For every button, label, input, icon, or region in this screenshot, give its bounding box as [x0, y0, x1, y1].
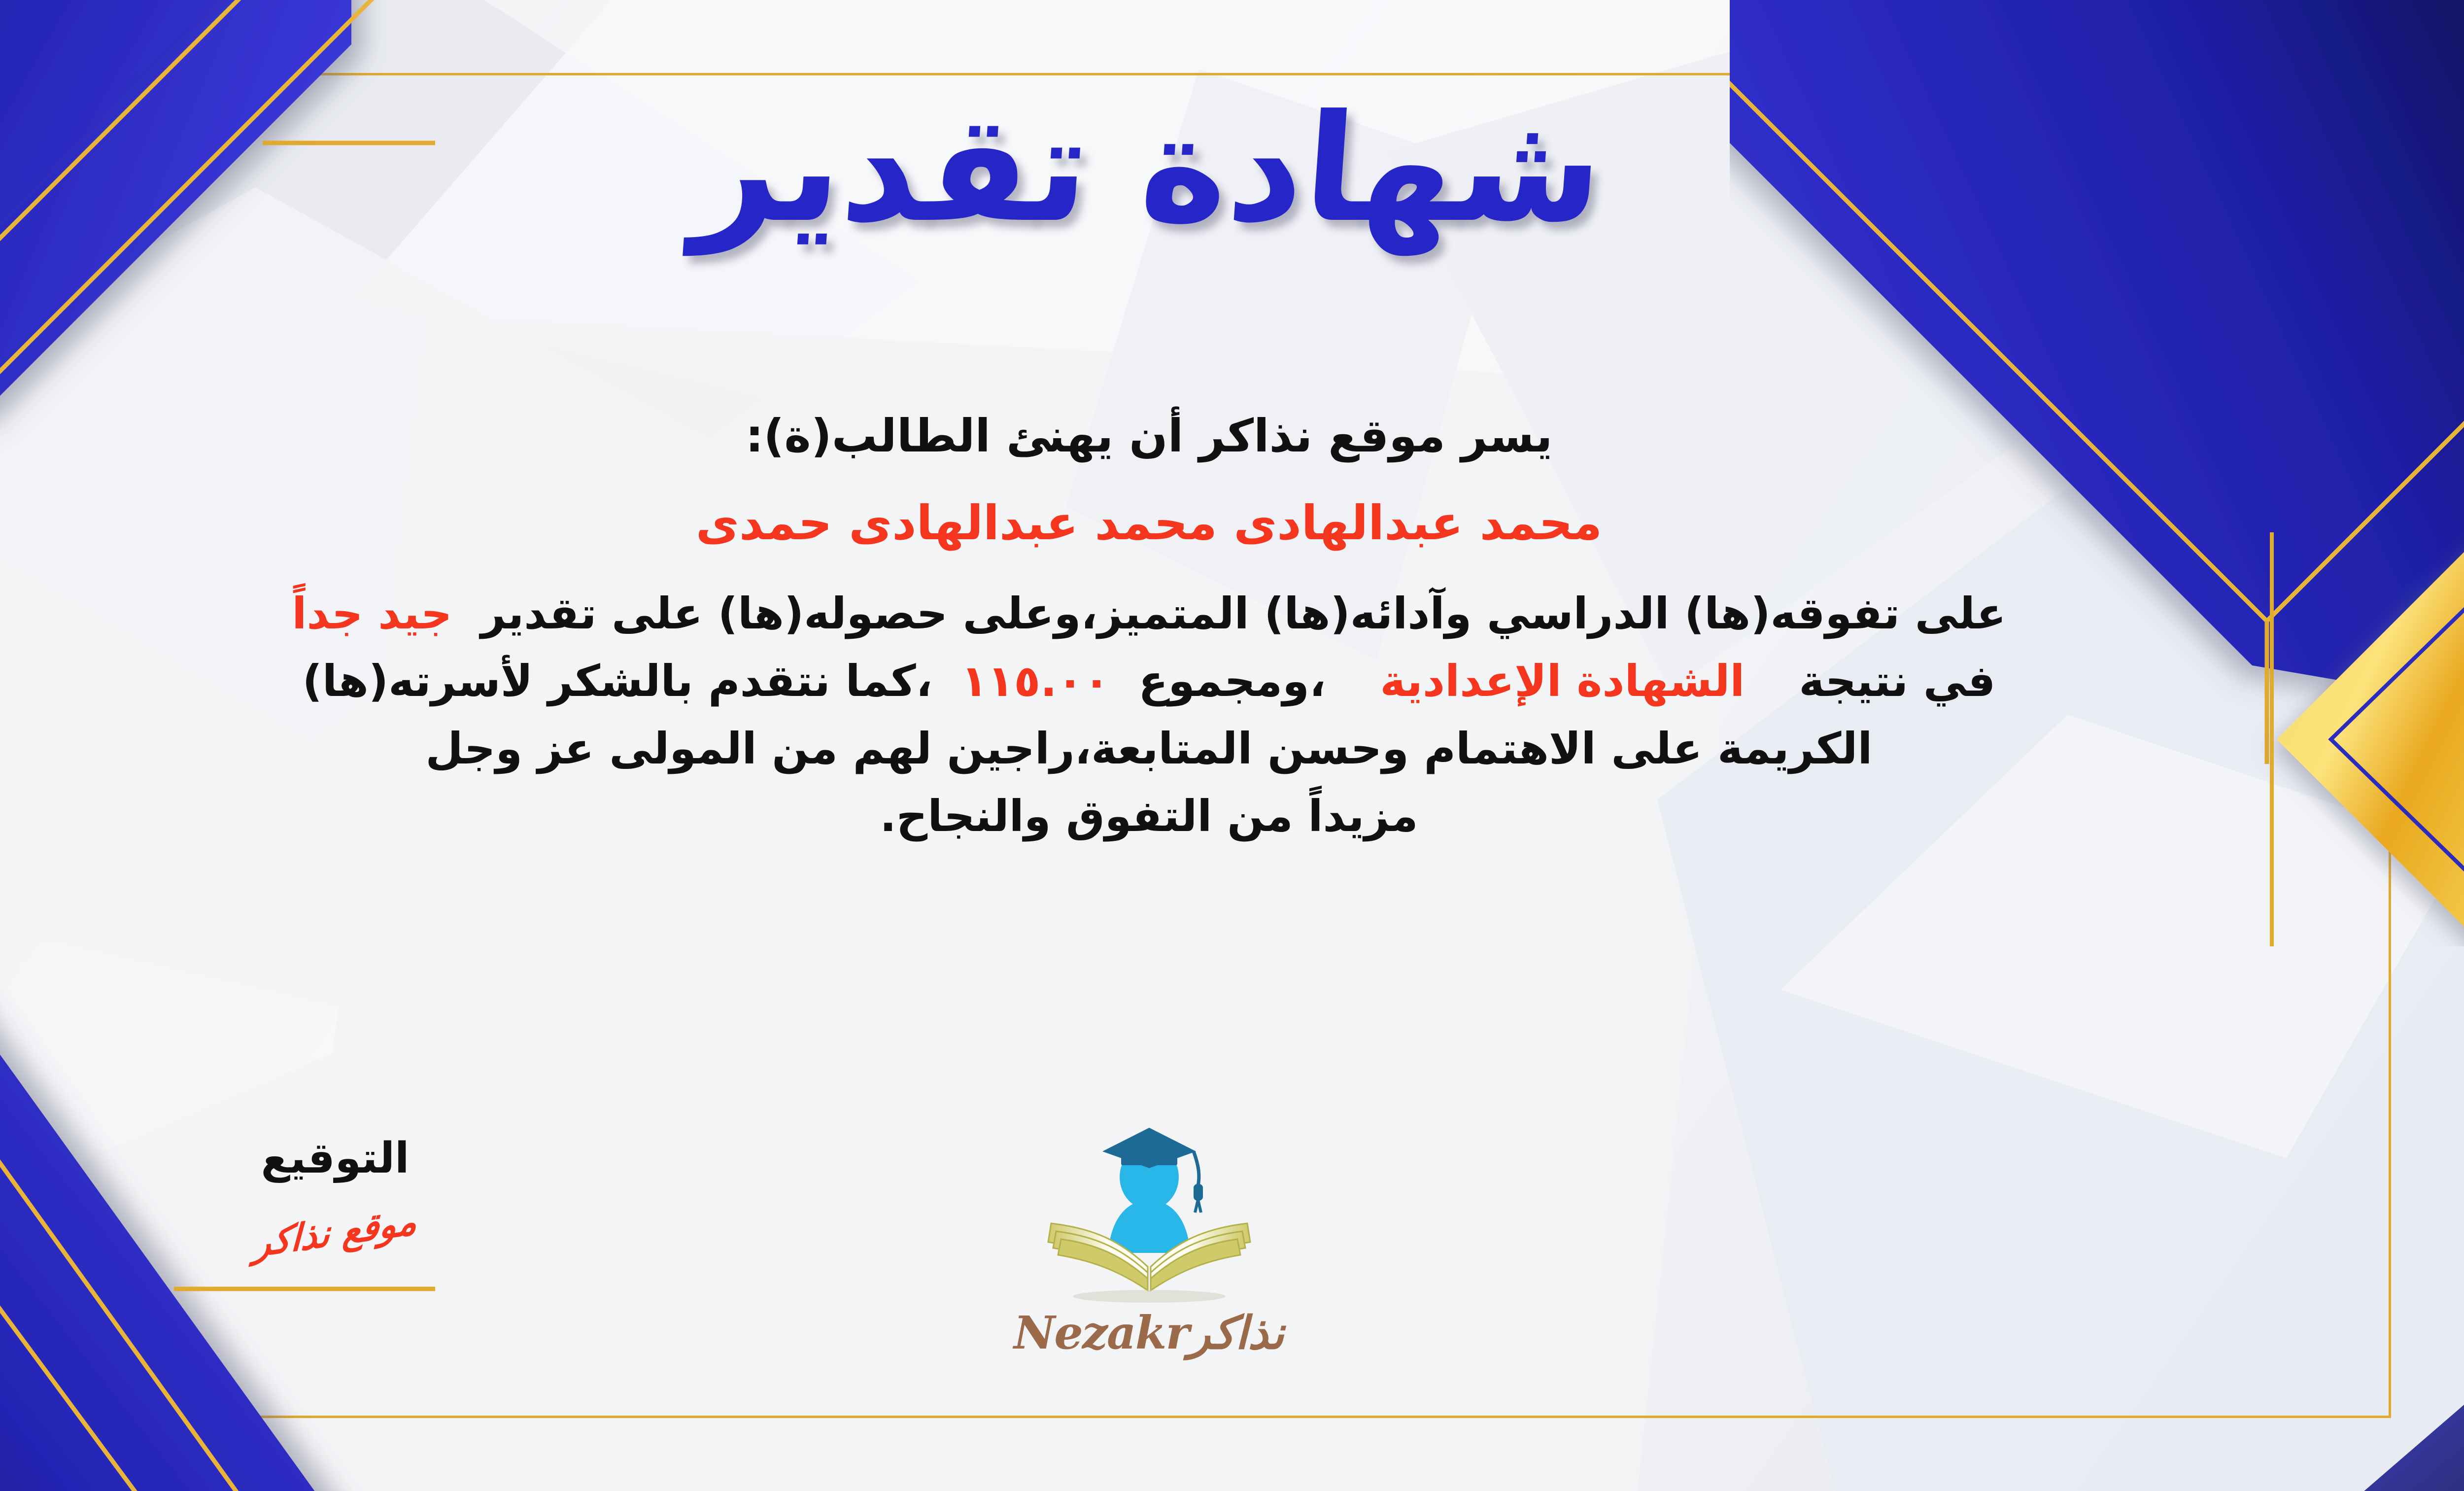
page-title: شهادة تقدير [688, 69, 1610, 269]
result-line: في نتيجةالشهادة الإعدادية،ومجموع١١٥.٠٠،ك… [0, 651, 2336, 712]
certificate-body: يسر موقع نذاكر أن يهنئ الطالب(ة): محمد ع… [0, 404, 2336, 847]
certificate-title-area: شهادة تقدير [0, 69, 2464, 269]
certificate-page: شهادة تقدير يسر موقع نذاكر أن يهنئ الطال… [0, 0, 2464, 1491]
total-score: ١١٥.٠٠ [961, 656, 1110, 706]
logo-wordmark: نذاكرNezakr [0, 1306, 2464, 1359]
site-logo: نذاكرNezakr [0, 1119, 2464, 1359]
intro-line: يسر موقع نذاكر أن يهنئ الطالب(ة): [0, 404, 2336, 469]
grade-value: جيد جداً [292, 588, 452, 639]
thanks-line: الكريمة على الاهتمام وحسن المتابعة،راجين… [0, 718, 2336, 780]
achievement-line: على تفوقه(ها) الدراسي وآدائه(ها) المتميز… [0, 583, 2336, 645]
student-name: محمد عبدالهادى محمد عبدالهادى حمدى [0, 489, 2336, 556]
logo-wordmark-arabic: نذاكر [1189, 1306, 1284, 1359]
closing-line: مزيداً من التفوق والنجاح. [0, 786, 2336, 847]
graduate-book-icon [1033, 1119, 1265, 1311]
thanks-prefix: ،كما نتقدم بالشكر لأسرته(ها) [303, 656, 933, 706]
result-prefix: في نتيجة [1799, 656, 1995, 706]
logo-wordmark-latin: Nezakr [1014, 1306, 1189, 1359]
certificate-name: الشهادة الإعدادية [1380, 656, 1745, 706]
total-label: ،ومجموع [1138, 656, 1326, 706]
achievement-text: على تفوقه(ها) الدراسي وآدائه(ها) المتميز… [480, 588, 2006, 639]
